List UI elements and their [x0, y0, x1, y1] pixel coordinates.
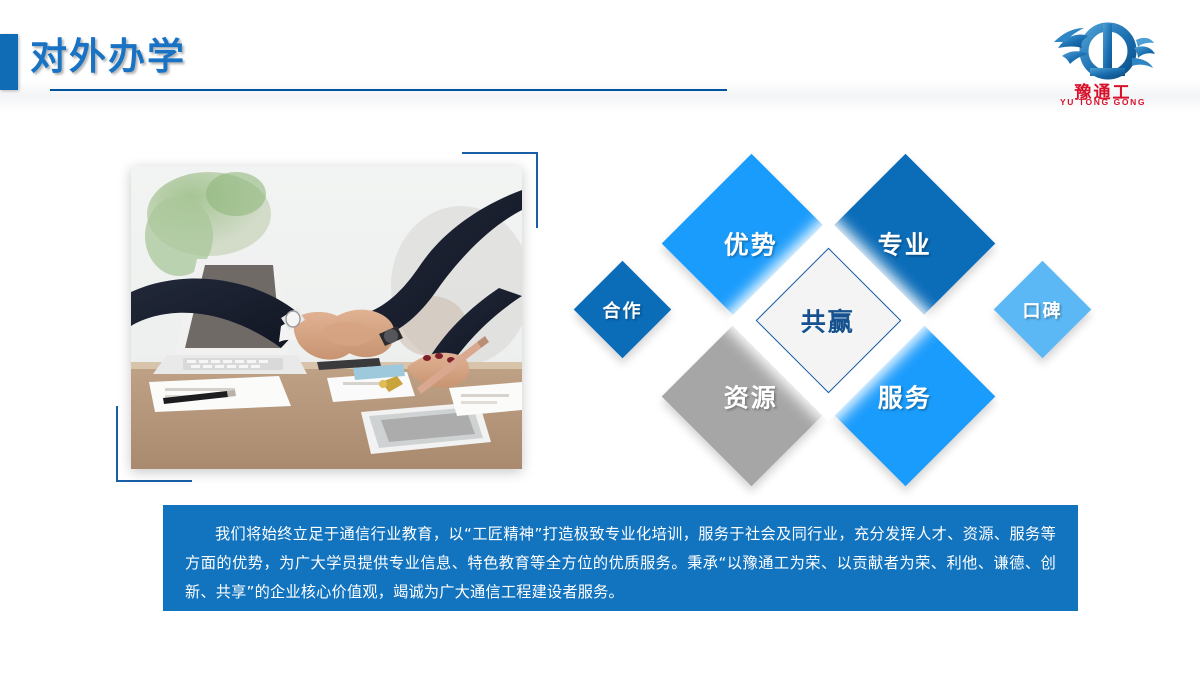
caption-text: 我们将始终立足于通信行业教育，以“工匠精神”打造极致专业化培训，服务于社会及同行… — [185, 520, 1056, 607]
diamond-zhuanye-label: 专业 — [878, 225, 932, 261]
photo-frame-top-right-vertical — [536, 152, 538, 228]
diamond-koubei-label: 口碑 — [1023, 297, 1063, 323]
diamond-fuwu-label: 服务 — [878, 378, 932, 414]
diamond-koubei[interactable]: 口碑 — [994, 261, 1092, 359]
title-accent-bar — [0, 34, 18, 90]
photo-frame-bottom-left-vertical — [116, 406, 118, 482]
business-handshake-photo — [131, 166, 522, 469]
logo: 豫通工 YU TONG GONG — [1038, 18, 1168, 110]
caption-panel: 我们将始终立足于通信行业教育，以“工匠精神”打造极致专业化培训，服务于社会及同行… — [163, 505, 1078, 611]
dragon-emblem-icon — [1052, 18, 1156, 80]
photo-frame-bottom-left-horizontal — [116, 480, 192, 482]
diamond-hezuo[interactable]: 合作 — [574, 261, 672, 359]
win-win-diamond-diagram: 优势 专业 资源 服务 合作 口碑 共赢 — [570, 140, 1110, 480]
diamond-youshi-label: 优势 — [724, 225, 778, 261]
logo-english-name: YU TONG GONG — [1038, 97, 1168, 107]
photo-frame-top-right-horizontal — [462, 152, 538, 154]
diamond-center-label: 共赢 — [801, 302, 855, 338]
title-divider — [50, 89, 727, 91]
diamond-hezuo-label: 合作 — [603, 297, 643, 323]
page-title: 对外办学 — [30, 26, 186, 80]
photo-container — [131, 166, 522, 469]
diamond-ziyuan-label: 资源 — [724, 378, 778, 414]
